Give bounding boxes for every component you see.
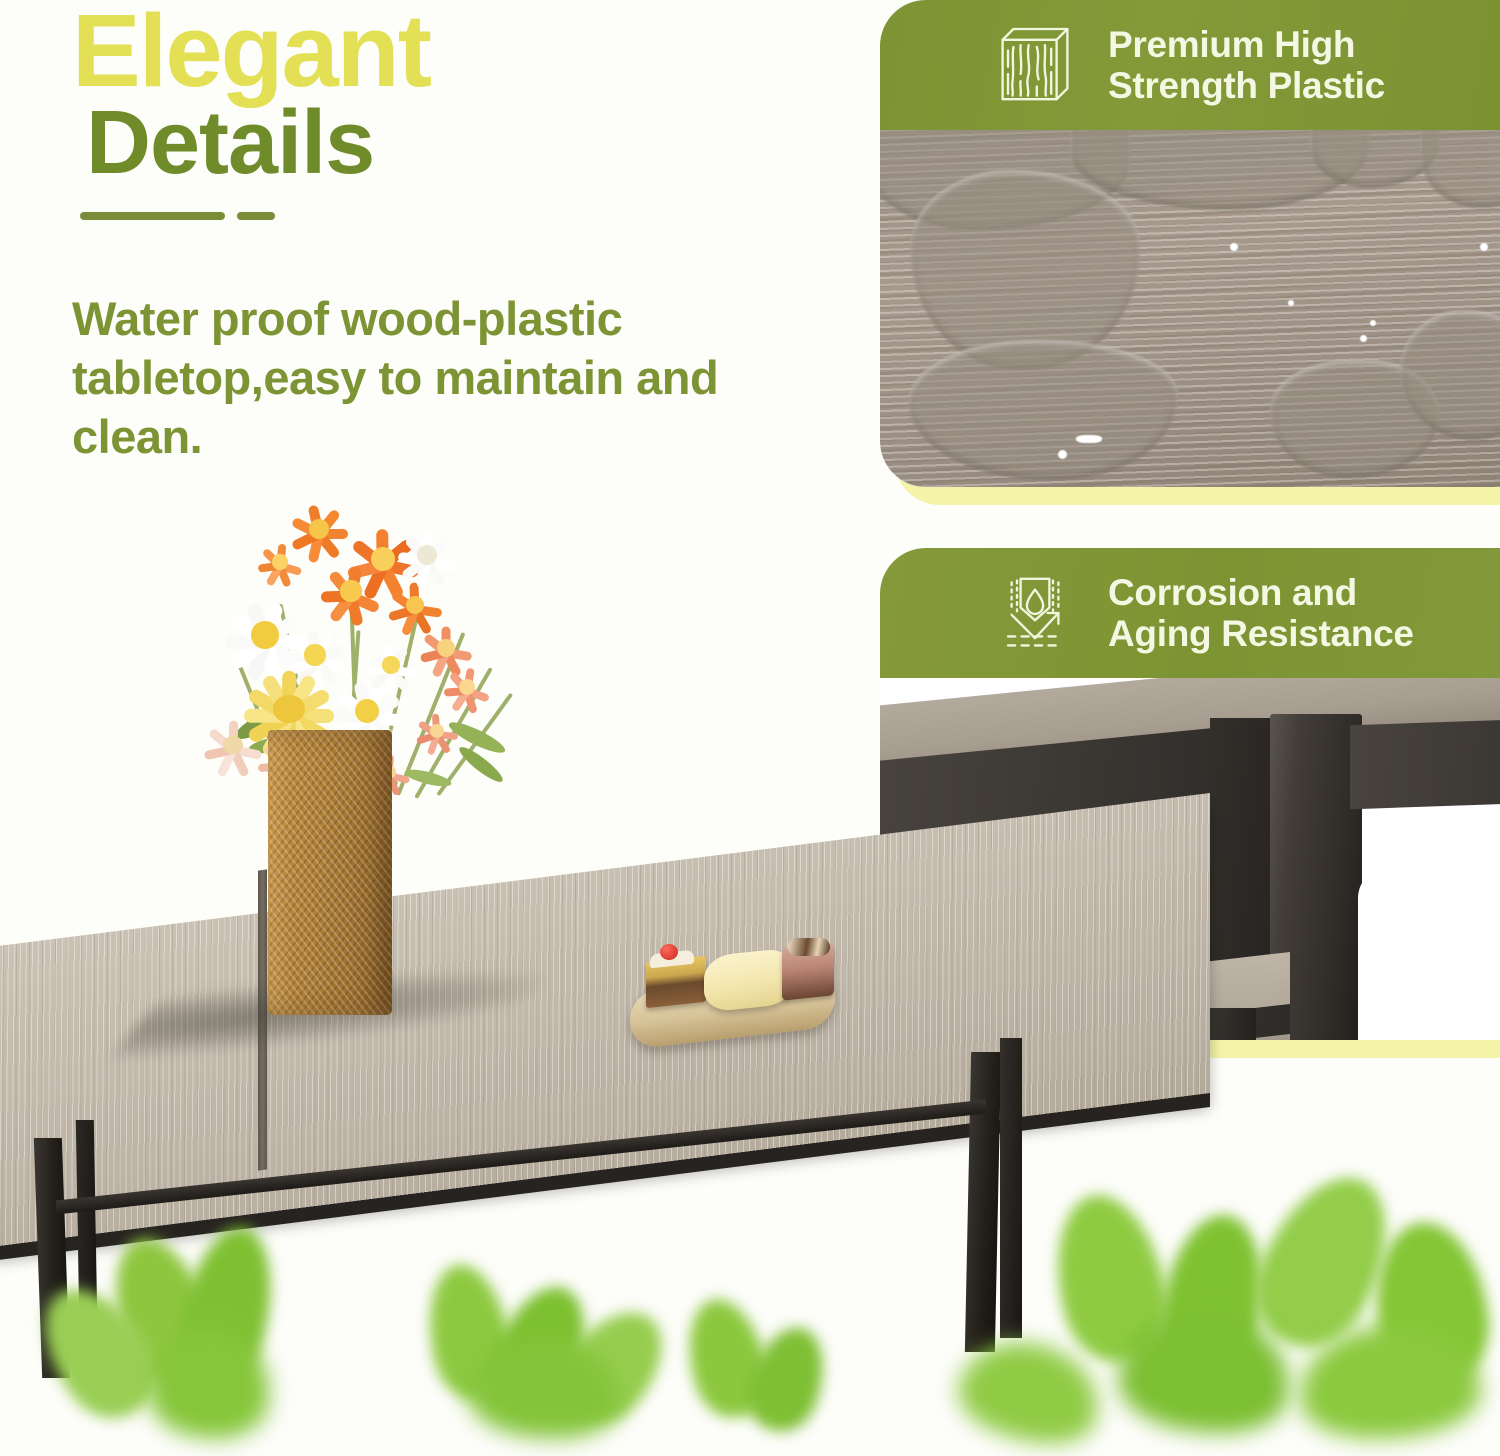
- page-title-line1: Elegant: [72, 4, 832, 99]
- flower-coral: [414, 708, 460, 754]
- leg-inner-cutout: [1358, 868, 1500, 1040]
- table-leg-right: [965, 1052, 1001, 1352]
- leaf: [1296, 1320, 1483, 1444]
- feature-panel-premium-plastic: Premium High Strength Plastic: [880, 0, 1500, 487]
- water-repellent-shield-icon: [990, 567, 1080, 659]
- leaf: [1365, 1215, 1496, 1391]
- flower-orange: [318, 558, 384, 624]
- flower-peach: [202, 716, 264, 774]
- cake-berry: [660, 944, 678, 960]
- leaf: [1235, 1156, 1414, 1365]
- table-leg-right-inner: [1000, 1038, 1022, 1338]
- flower-orange: [256, 538, 304, 586]
- panel-card: Premium High Strength Plastic: [880, 0, 1500, 487]
- subheadline-text: Water proof wood-plastic tabletop,easy t…: [72, 290, 792, 466]
- panel-banner: Corrosion and Aging Resistance: [880, 548, 1500, 678]
- table-leg-foreground: [1210, 1008, 1256, 1040]
- product-detail-banner: Elegant Details Water proof wood-plastic…: [0, 0, 1500, 1376]
- leaf: [1114, 1303, 1296, 1440]
- flower-white-daisy: [396, 524, 458, 586]
- chocolate-swirl: [788, 938, 830, 956]
- woven-rattan-vase: [268, 730, 392, 1015]
- title-divider: [80, 212, 832, 220]
- divider-dash-long: [80, 212, 225, 220]
- panel-photo-water-beading: [880, 130, 1500, 487]
- headline-block: Elegant Details: [72, 4, 832, 220]
- panel-title: Corrosion and Aging Resistance: [1108, 572, 1414, 655]
- flower-coral: [442, 662, 492, 712]
- leaf: [1153, 1207, 1275, 1377]
- flower-white-daisy: [364, 638, 418, 692]
- page-title-line2: Details: [72, 101, 832, 187]
- panel-banner: Premium High Strength Plastic: [880, 0, 1500, 130]
- divider-dash-short: [237, 212, 275, 220]
- main-product-scene: [0, 820, 1080, 1376]
- wood-grain-block-icon: [990, 19, 1080, 111]
- panel-title: Premium High Strength Plastic: [1108, 24, 1385, 107]
- table-rail-right: [1350, 719, 1500, 810]
